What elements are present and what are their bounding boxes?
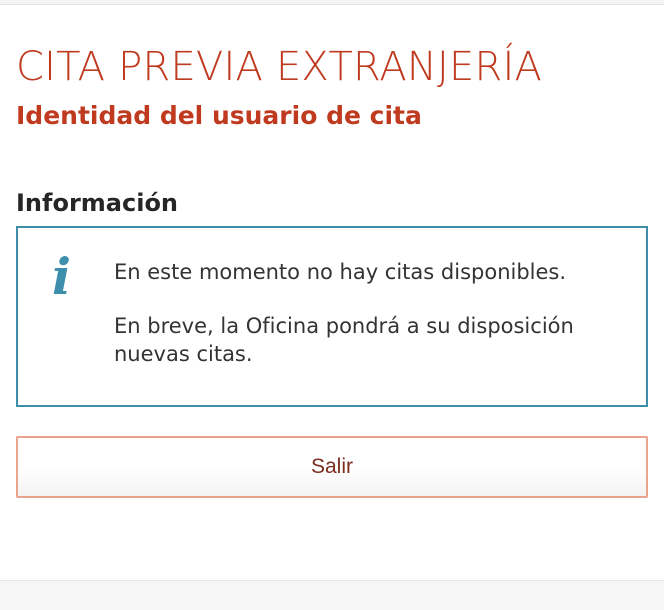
- information-message-secondary: En breve, la Oficina pondrá a su disposi…: [114, 312, 628, 368]
- information-panel: i En este momento no hay citas disponibl…: [16, 226, 648, 407]
- page-title: CITA PREVIA EXTRANJERÍA: [16, 6, 648, 88]
- browser-top-chrome-strip: [0, 0, 664, 5]
- information-section-heading: Información: [16, 130, 648, 226]
- information-message-group: En este momento no hay citas disponibles…: [114, 254, 628, 368]
- info-italic-i-icon: i: [38, 254, 114, 300]
- exit-button[interactable]: Salir: [16, 436, 648, 498]
- information-message-primary: En este momento no hay citas disponibles…: [114, 258, 628, 286]
- content-wrapper: CITA PREVIA EXTRANJERÍA Identidad del us…: [0, 6, 664, 498]
- action-button-row: Salir: [16, 407, 648, 498]
- page-container: CITA PREVIA EXTRANJERÍA Identidad del us…: [0, 6, 664, 580]
- browser-bottom-chrome-strip: [0, 580, 664, 610]
- page-subtitle: Identidad del usuario de cita: [16, 88, 648, 130]
